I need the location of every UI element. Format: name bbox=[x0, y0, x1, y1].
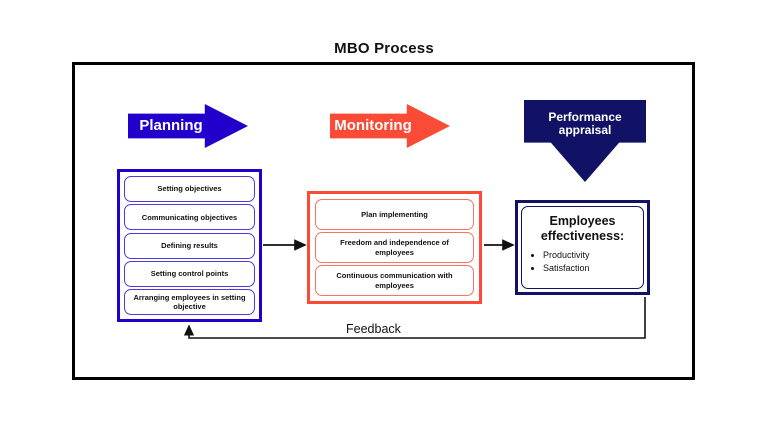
monitoring-step: Freedom and independence of employees bbox=[315, 232, 474, 263]
employees-effectiveness-item: Productivity bbox=[543, 249, 634, 263]
planning-step: Communicating objectives bbox=[124, 204, 255, 230]
page-title: MBO Process bbox=[0, 40, 768, 57]
feedback-label: Feedback bbox=[340, 322, 407, 336]
employees-effectiveness-panel: Employees effectiveness: Productivity Sa… bbox=[515, 200, 650, 295]
monitoring-step-group: Plan implementing Freedom and independen… bbox=[307, 191, 482, 304]
monitoring-step: Plan implementing bbox=[315, 199, 474, 230]
planning-step: Setting control points bbox=[124, 261, 255, 287]
employees-effectiveness-title-line2: effectiveness: bbox=[531, 229, 634, 244]
employees-effectiveness-title-line1: Employees bbox=[531, 214, 634, 229]
banner-arrow-performance-appraisal-label-line1: Performance bbox=[548, 111, 621, 124]
employees-effectiveness-title: Employees effectiveness: bbox=[531, 214, 634, 244]
monitoring-step: Continuous communication with employees bbox=[315, 265, 474, 296]
planning-step-group: Setting objectives Communicating objecti… bbox=[117, 169, 262, 322]
employees-effectiveness-item: Satisfaction bbox=[543, 262, 634, 276]
banner-arrow-performance-appraisal-label-line2: appraisal bbox=[559, 124, 612, 137]
planning-step: Defining results bbox=[124, 233, 255, 259]
employees-effectiveness-list: Productivity Satisfaction bbox=[531, 249, 634, 276]
banner-arrow-monitoring-label: Monitoring bbox=[334, 118, 411, 135]
planning-step: Setting objectives bbox=[124, 176, 255, 202]
employees-effectiveness-inner: Employees effectiveness: Productivity Sa… bbox=[521, 206, 644, 289]
banner-arrow-planning-label: Planning bbox=[139, 118, 202, 135]
planning-step: Arranging employees in setting objective bbox=[124, 289, 255, 315]
